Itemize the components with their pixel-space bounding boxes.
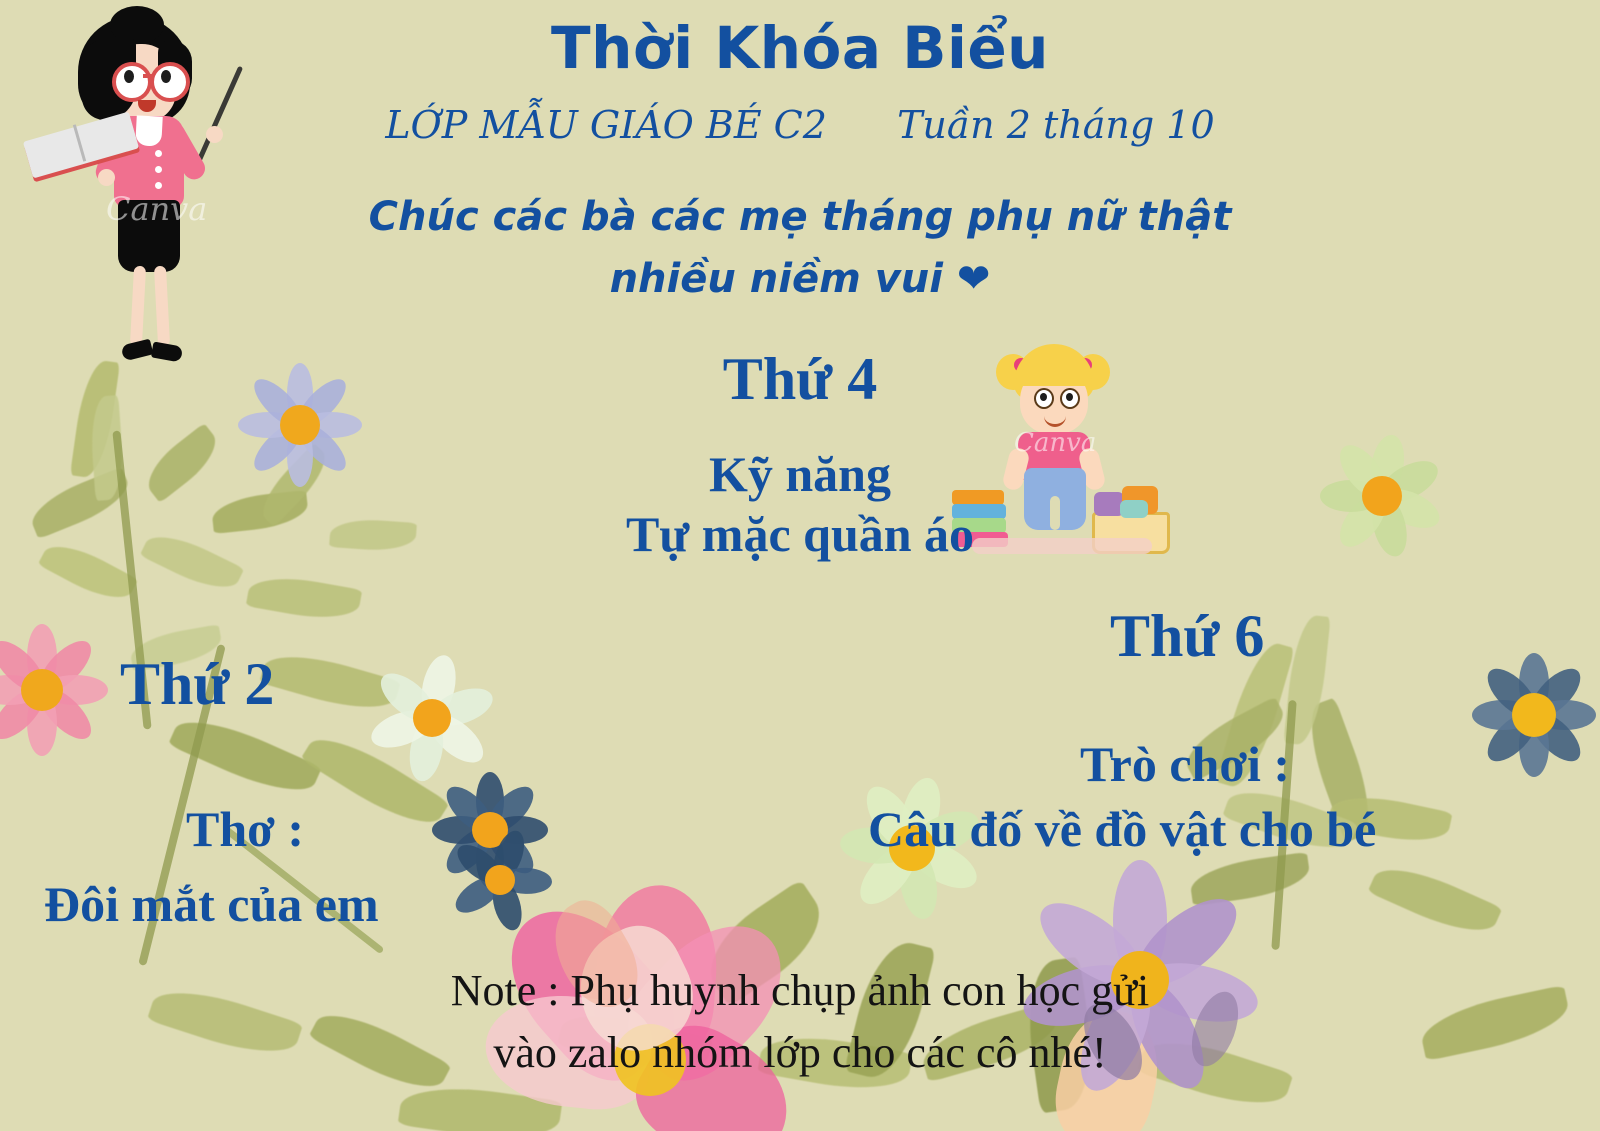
activity-detail-thu2: Đôi mắt của em — [44, 875, 379, 933]
activity-detail-thu6: Câu đố về đồ vật cho bé — [868, 800, 1376, 858]
subtitle-row: LỚP MẪU GIÁO BÉ C2 Tuần 2 tháng 10 — [0, 103, 1600, 147]
week-label: Tuần 2 tháng 10 — [897, 103, 1215, 147]
greeting-block: Chúc các bà các mẹ tháng phụ nữ thật nhi… — [330, 186, 1270, 310]
note-block: Note : Phụ huynh chụp ảnh con học gửi và… — [330, 960, 1270, 1085]
leg-left — [130, 266, 146, 347]
jacket-button-3 — [155, 182, 162, 189]
note-line-1: Note : Phụ huynh chụp ảnh con học gửi — [330, 960, 1270, 1022]
activity-label-thu4: Kỹ năng — [0, 445, 1600, 503]
hand-left — [98, 169, 115, 186]
jacket-button-1 — [155, 150, 162, 157]
day-heading-thu4: Thứ 4 — [0, 345, 1600, 414]
skirt — [118, 200, 180, 272]
schedule-poster: Canva Canva — [0, 0, 1600, 1131]
leg-right — [154, 266, 170, 347]
poster-title: Thời Khóa Biểu — [0, 14, 1600, 82]
day-heading-thu6: Thứ 6 — [1110, 602, 1264, 671]
class-name: LỚP MẪU GIÁO BÉ C2 — [385, 103, 827, 147]
jacket-button-2 — [155, 166, 162, 173]
note-line-2: vào zalo nhóm lớp cho các cô nhé! — [330, 1022, 1270, 1084]
greeting-line-1: Chúc các bà các mẹ tháng phụ nữ thật — [330, 186, 1270, 248]
day-heading-thu2: Thứ 2 — [120, 650, 274, 719]
activity-detail-thu4: Tự mặc quần áo — [0, 505, 1600, 563]
greeting-line-2: nhiều niềm vui ❤ — [330, 248, 1270, 310]
activity-label-thu6: Trò chơi : — [1080, 735, 1290, 793]
activity-label-thu2: Thơ : — [186, 800, 304, 858]
